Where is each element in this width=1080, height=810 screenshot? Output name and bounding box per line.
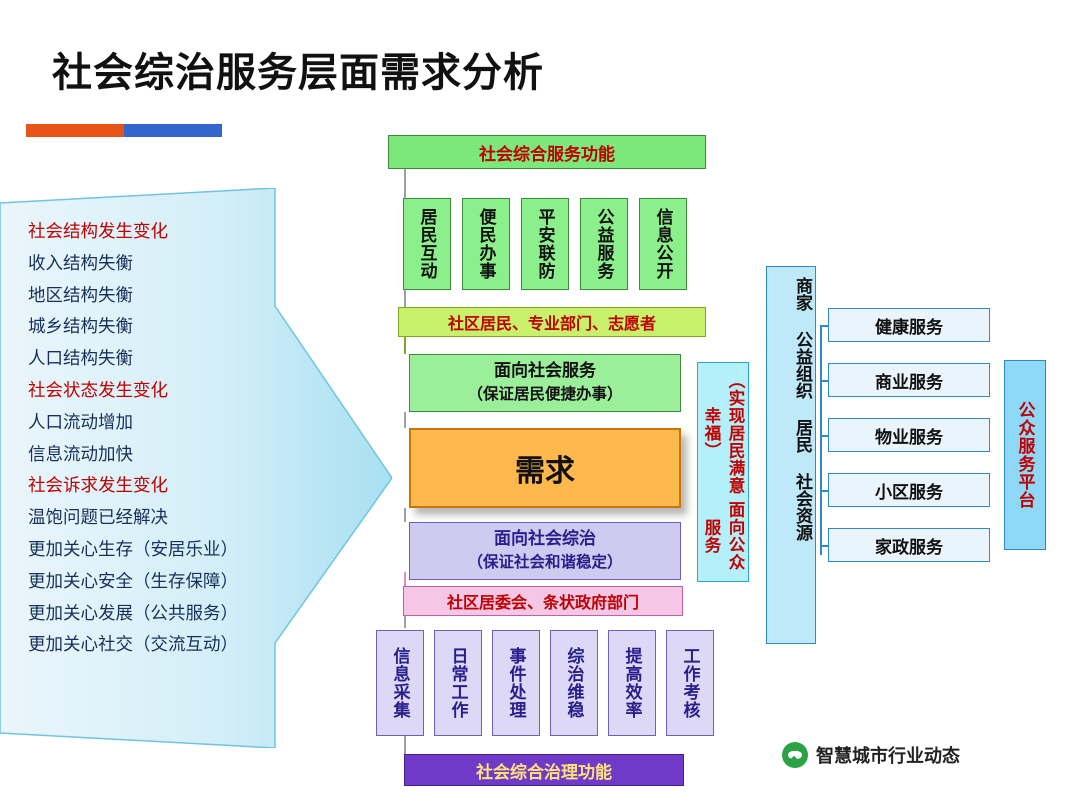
service-item-0[interactable]: 居民互动 [403, 198, 451, 290]
connector-items-footer-down [404, 736, 406, 754]
left-line-9: 温饱问题已经解决 [28, 502, 328, 534]
resource-item-2: 居民 [790, 419, 815, 453]
need-box: 需求 [409, 428, 681, 508]
left-line-0: 社会结构发生变化 [28, 216, 328, 248]
left-line-5: 社会状态发生变化 [28, 375, 328, 407]
resource-item-3: 社会资源 [790, 473, 815, 541]
watermark: 智慧城市行业动态 [782, 742, 960, 768]
right-service-0[interactable]: 健康服务 [828, 308, 990, 342]
connector-mid-need-down [404, 412, 406, 428]
service-oriented-box: 面向社会服务 （保证居民便捷办事） [409, 354, 681, 412]
govern-item-4[interactable]: 提高效率 [608, 630, 656, 736]
govern-function-header: 社会综合治理功能 [404, 754, 684, 786]
govern-item-1[interactable]: 日常工作 [434, 630, 482, 736]
left-line-1: 收入结构失衡 [28, 248, 328, 280]
resource-column: 商家 公益组织 居民 社会资源 [766, 266, 816, 644]
connector-service-header-down [404, 168, 406, 200]
connector-actors-items-down [404, 614, 406, 628]
left-line-2: 地区结构失衡 [28, 280, 328, 312]
service-oriented-title: 面向社会服务 [494, 359, 596, 383]
left-line-4: 人口结构失衡 [28, 343, 328, 375]
right-service-1[interactable]: 商业服务 [828, 363, 990, 397]
left-line-13: 更加关心社交（交流互动） [28, 629, 328, 661]
resource-item-1: 公益组织 [790, 331, 815, 399]
public-service-line-1: （实现居民满意幸福） [699, 369, 747, 498]
connector-actors-down [404, 336, 406, 354]
left-line-12: 更加关心发展（公共服务） [28, 598, 328, 630]
service-item-3[interactable]: 公益服务 [580, 198, 628, 290]
public-service-platform-bar: 公众服务平台 [1004, 360, 1046, 550]
connector-service-items-down [404, 288, 406, 308]
service-item-1[interactable]: 便民办事 [462, 198, 510, 290]
connector-service-spine [820, 325, 822, 555]
rule-segment-blue [124, 124, 222, 137]
govern-item-2[interactable]: 事件处理 [492, 630, 540, 736]
watermark-text: 智慧城市行业动态 [816, 742, 960, 768]
left-line-10: 更加关心生存（安居乐业） [28, 534, 328, 566]
right-service-3[interactable]: 小区服务 [828, 473, 990, 507]
right-service-2[interactable]: 物业服务 [828, 418, 990, 452]
left-line-6: 人口流动增加 [28, 407, 328, 439]
left-line-8: 社会诉求发生变化 [28, 470, 328, 502]
govern-item-5[interactable]: 工作考核 [666, 630, 714, 736]
wechat-icon [782, 742, 808, 768]
service-function-header: 社会综合服务功能 [388, 135, 706, 169]
service-item-2[interactable]: 平安联防 [521, 198, 569, 290]
govern-oriented-subtitle: （保证社会和谐稳定） [467, 551, 622, 575]
rule-segment-orange [26, 124, 124, 137]
service-item-4[interactable]: 信息公开 [639, 198, 687, 290]
govern-oriented-title: 面向社会综治 [494, 527, 596, 551]
govern-item-0[interactable]: 信息采集 [376, 630, 424, 736]
title-underline-rule [26, 124, 222, 137]
connector-need-govern-down [404, 508, 406, 522]
public-service-oriented-bar: （实现居民满意幸福） 面向公众服务 [697, 362, 749, 582]
right-service-4[interactable]: 家政服务 [828, 528, 990, 562]
left-line-3: 城乡结构失衡 [28, 311, 328, 343]
left-arrow-panel: 社会结构发生变化 收入结构失衡 地区结构失衡 城乡结构失衡 人口结构失衡 社会状… [0, 188, 392, 748]
page-title: 社会综治服务层面需求分析 [52, 40, 544, 98]
govern-item-3[interactable]: 综治维稳 [550, 630, 598, 736]
left-arrow-text-block: 社会结构发生变化 收入结构失衡 地区结构失衡 城乡结构失衡 人口结构失衡 社会状… [28, 216, 328, 661]
left-line-11: 更加关心安全（生存保障） [28, 566, 328, 598]
public-service-line-2: 面向公众服务 [699, 498, 747, 575]
service-oriented-subtitle: （保证居民便捷办事） [467, 383, 622, 407]
left-line-7: 信息流动加快 [28, 439, 328, 471]
resource-item-0: 商家 [790, 277, 815, 311]
diagram-canvas: 社会综治服务层面需求分析 社会结构发生变化 收入结构失衡 地区结构失衡 城乡结构… [0, 0, 1080, 810]
govern-actors-bar: 社区居委会、条状政府部门 [403, 586, 683, 616]
service-actors-bar: 社区居民、专业部门、志愿者 [398, 307, 706, 337]
connector-govern-actors-down [404, 572, 406, 586]
govern-oriented-box: 面向社会综治 （保证社会和谐稳定） [409, 522, 681, 580]
